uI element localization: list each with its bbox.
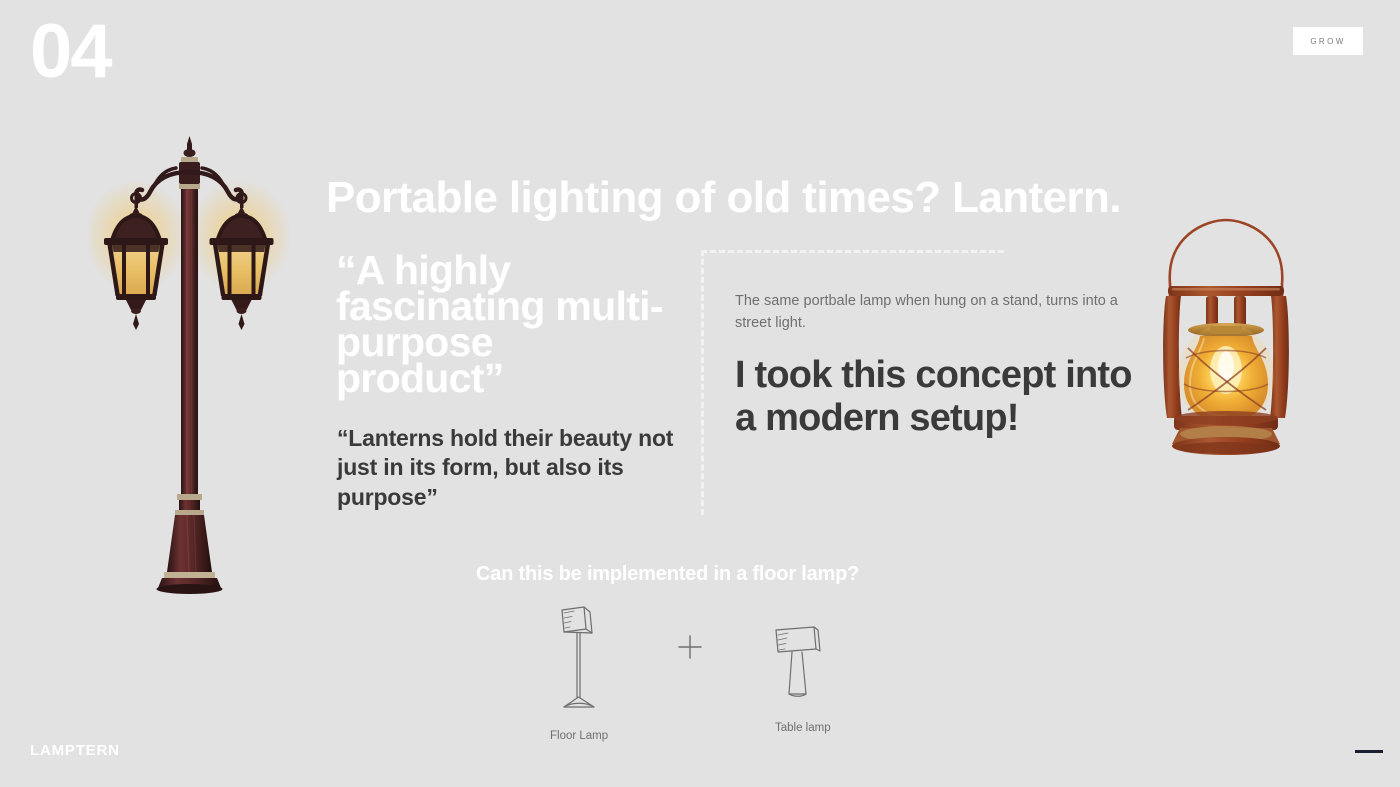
oil-lantern-illustration (1140, 218, 1312, 468)
sketch-row: Floor Lamp Table lamp (520, 596, 900, 751)
footer-dash (1355, 750, 1383, 753)
floor-lamp-sketch (540, 601, 640, 731)
slide-canvas: 04 GROW (0, 0, 1400, 787)
table-lamp-sketch (768, 624, 868, 724)
table-lamp-label: Table lamp (775, 722, 831, 734)
page-title: Portable lighting of old times? Lantern. (326, 175, 1121, 221)
callout-note: The same portbale lamp when hung on a st… (735, 291, 1120, 335)
grow-badge[interactable]: GROW (1293, 27, 1363, 55)
grow-badge-label: GROW (1310, 37, 1345, 46)
plus-icon (675, 632, 705, 662)
street-lamp-illustration (88, 128, 300, 598)
highlight-quote: “A highly fascinating multi-purpose prod… (336, 252, 666, 396)
secondary-quote: “Lanterns hold their beauty not just in … (337, 424, 677, 512)
floor-lamp-label: Floor Lamp (550, 730, 608, 742)
bottom-question: Can this be implemented in a floor lamp? (476, 563, 859, 586)
slide-number: 04 (30, 14, 111, 90)
brand-wordmark: LAMPTERN (30, 742, 120, 759)
callout-heading: I took this concept into a modern setup! (735, 354, 1135, 439)
